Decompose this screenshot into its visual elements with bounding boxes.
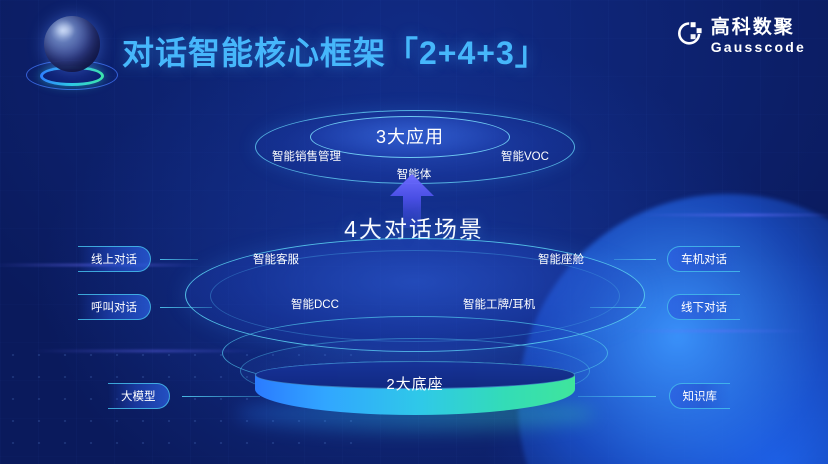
brand-logo: 高科数聚 Gausscode bbox=[676, 18, 806, 54]
side-label-call-dialogue[interactable]: 呼叫对话 bbox=[78, 294, 151, 320]
connector-large-model bbox=[182, 396, 260, 397]
page-title: 对话智能核心框架「2+4+3」 bbox=[122, 28, 548, 74]
gausscode-logo-icon bbox=[676, 20, 704, 48]
scenario-item-cockpit: 智能座舱 bbox=[538, 251, 584, 267]
connector-knowledge-base bbox=[578, 396, 656, 397]
scenario-item-badge-headset: 智能工牌/耳机 bbox=[463, 296, 535, 312]
framework-diagram: 3大应用 智能销售管理 智能VOC 智能体 4大对话场景 智能客服 智能座舱 bbox=[0, 98, 828, 464]
connector-online-dialogue bbox=[160, 259, 198, 260]
connector-offline-dialogue bbox=[590, 307, 646, 308]
foundation-title: 2大底座 bbox=[255, 373, 575, 394]
application-item-sales: 智能销售管理 bbox=[272, 148, 341, 164]
connector-invehicle-dialogue bbox=[614, 259, 656, 260]
orb-highlight bbox=[54, 22, 76, 38]
application-item-voc: 智能VOC bbox=[501, 148, 549, 164]
slide-canvas: 对话智能核心框架「2+4+3」 高科数聚 Gausscode 3大应用 智能销售… bbox=[0, 0, 828, 464]
brand-name-cn: 高科数聚 bbox=[711, 18, 806, 37]
side-label-knowledge-base[interactable]: 知识库 bbox=[669, 383, 731, 409]
scenario-item-dcc: 智能DCC bbox=[291, 296, 339, 312]
side-label-large-model[interactable]: 大模型 bbox=[108, 383, 170, 409]
side-label-online-dialogue[interactable]: 线上对话 bbox=[78, 246, 151, 272]
sphere-orb-icon bbox=[26, 12, 118, 98]
scenario-item-customer-service: 智能客服 bbox=[253, 251, 299, 267]
side-label-offline-dialogue[interactable]: 线下对话 bbox=[667, 294, 740, 320]
connector-call-dialogue bbox=[160, 307, 212, 308]
foundation-base: 2大底座 bbox=[255, 363, 575, 425]
side-label-invehicle-dialogue[interactable]: 车机对话 bbox=[667, 246, 740, 272]
brand-name-en: Gausscode bbox=[711, 40, 806, 54]
slide-header: 对话智能核心框架「2+4+3」 高科数聚 Gausscode bbox=[0, 0, 828, 104]
